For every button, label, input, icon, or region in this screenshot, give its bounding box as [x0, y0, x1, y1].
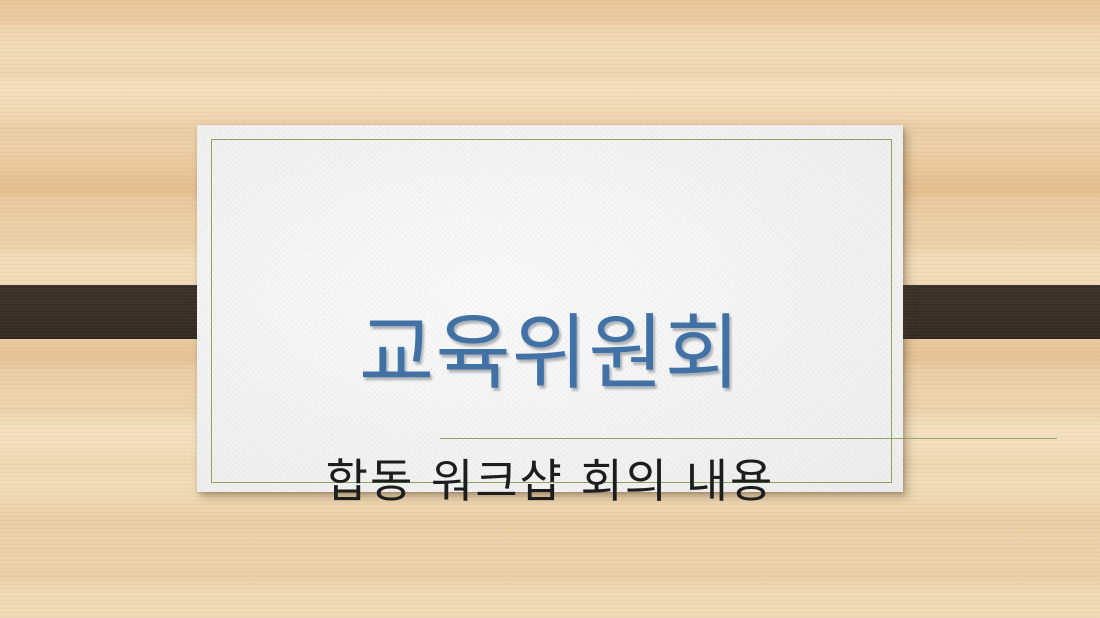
- page-subtitle: 합동 워크샵 회의 내용: [197, 456, 903, 507]
- ribbon-band-left-icon: [0, 285, 222, 339]
- presentation-slide: 교육위원회 합동 워크샵 회의 내용: [0, 0, 1100, 618]
- ribbon-band-right-icon: [878, 285, 1100, 339]
- page-title: 교육위원회: [197, 311, 903, 397]
- title-text-area: 교육위원회 합동 워크샵 회의 내용: [197, 125, 903, 492]
- title-card: 교육위원회 합동 워크샵 회의 내용: [197, 125, 903, 492]
- title-divider: [440, 438, 1057, 439]
